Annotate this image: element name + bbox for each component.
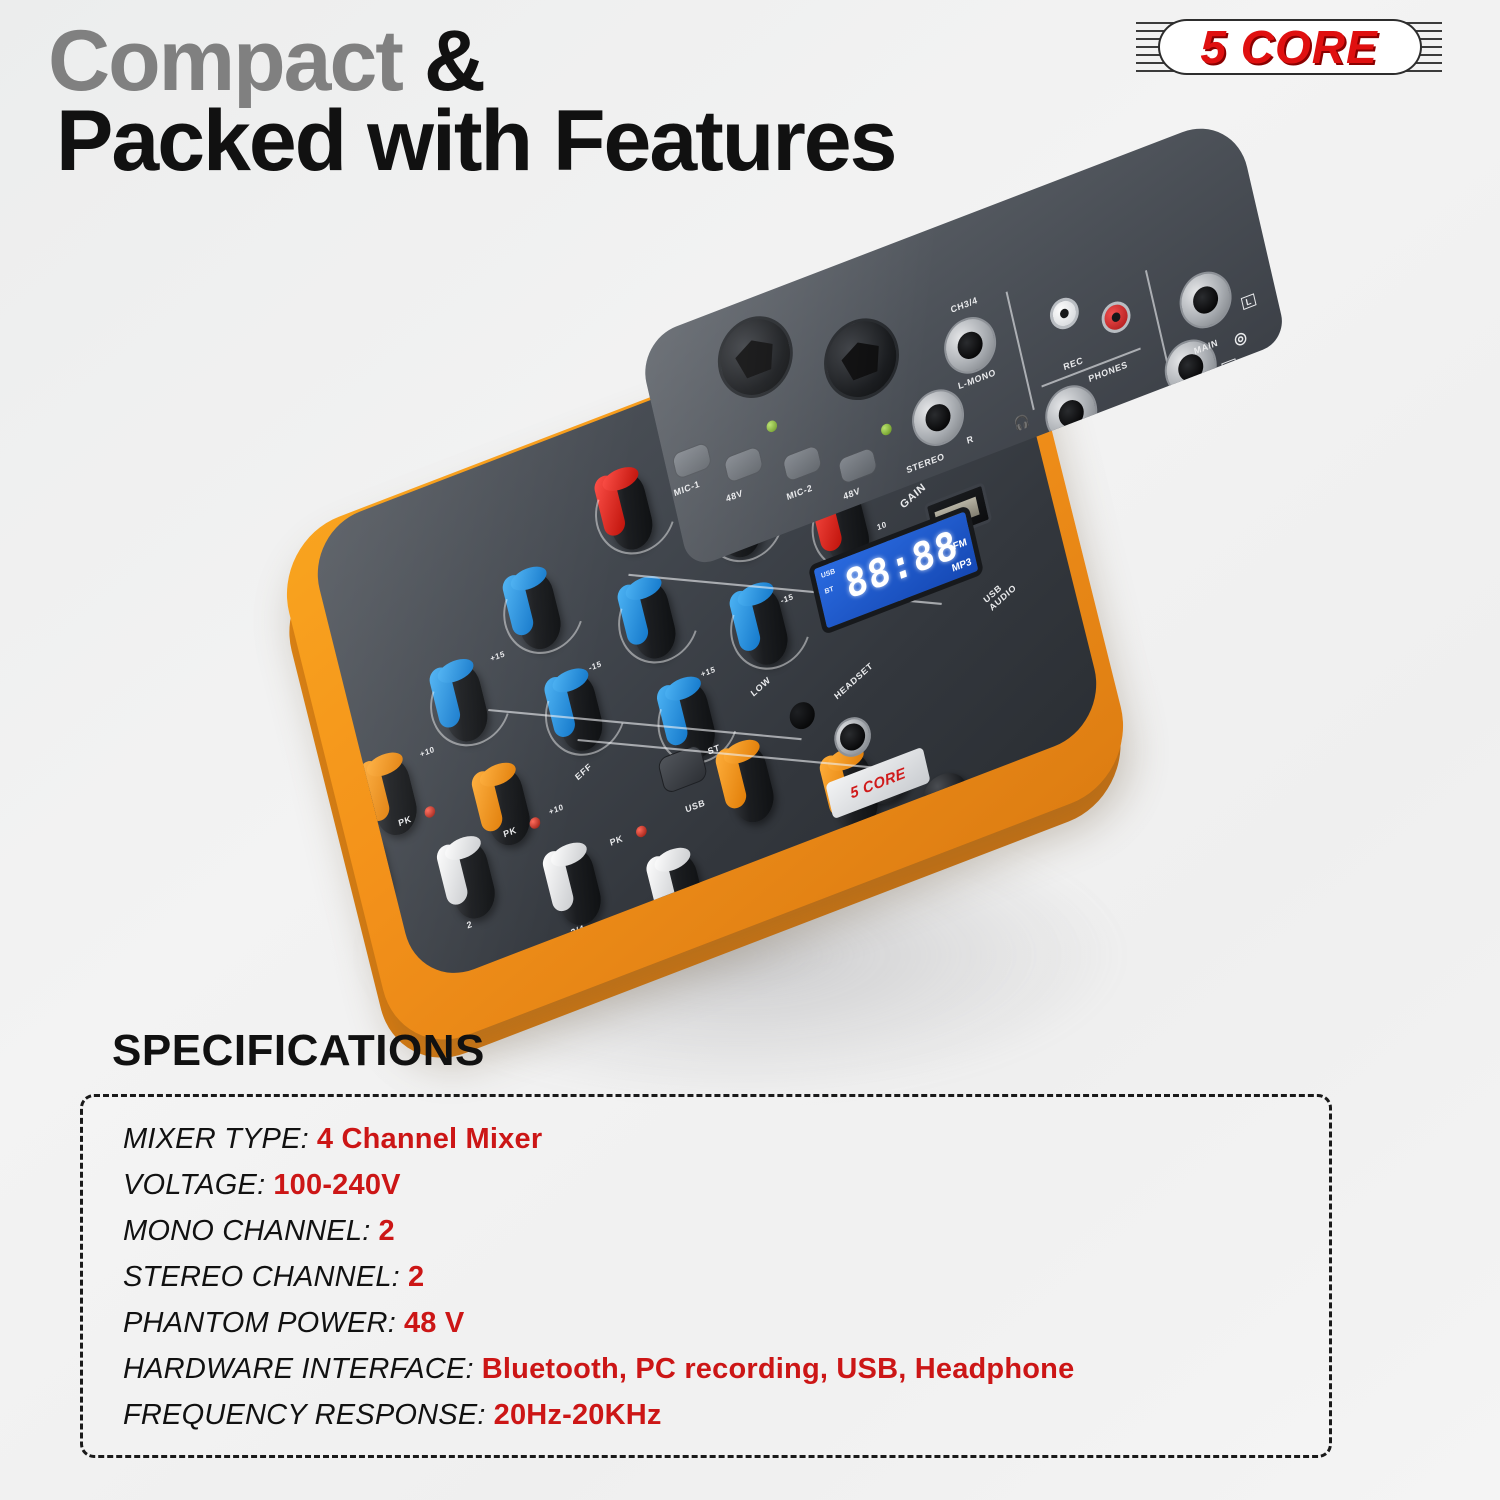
silk-guide-1 [488, 709, 802, 740]
label-rec: REC [1062, 355, 1084, 372]
specifications-box: MIXER TYPE: 4 Channel Mixer VOLTAGE: 100… [80, 1094, 1332, 1458]
spec-value-phantom-power: 48 V [404, 1307, 464, 1340]
jack-ch34[interactable] [939, 309, 1002, 381]
hi-eq-knob-ch1[interactable] [508, 566, 566, 655]
spec-label-mono-channel: MONO CHANNEL: [123, 1215, 371, 1248]
logo-text: 5 CORE [1136, 14, 1442, 80]
label-main-l: L [1241, 293, 1257, 310]
hi-eq-knob-ch2[interactable] [623, 576, 681, 665]
rec-underline [1041, 348, 1140, 388]
spec-row-frequency-response: FREQUENCY RESPONSE: 20Hz-20KHz [123, 1399, 662, 1432]
clip-led-b [991, 850, 1004, 865]
spec-row-voltage: VOLTAGE: 100-240V [123, 1169, 401, 1202]
label-mode: MODE [1030, 836, 1059, 864]
mic1-button[interactable] [671, 441, 712, 480]
st-usb-switch[interactable] [657, 743, 709, 795]
label-low: LOW [749, 675, 772, 699]
spec-value-stereo-channel: 2 [408, 1261, 424, 1294]
eff-knob-ch2[interactable] [477, 762, 535, 851]
jack-main-right[interactable] [1159, 332, 1222, 404]
spec-value-frequency-response: 20Hz-20KHz [494, 1399, 662, 1432]
label-phones: PHONES [1088, 359, 1129, 384]
label-pk-2: PK [502, 825, 517, 840]
label-main: MAIN [1193, 337, 1219, 356]
label-eff: EFF [573, 761, 593, 782]
xlr-input-mic1[interactable] [710, 305, 801, 410]
label-ch2: 2 [466, 919, 474, 931]
pk-led-3 [635, 824, 648, 839]
low-dial-ch2 [532, 652, 639, 772]
low-dial-ch1 [417, 643, 524, 763]
scale-mark-minus15-b: -15 [780, 592, 795, 606]
label-ch34: CH3/4 [950, 295, 979, 315]
label-sig: SIG [922, 883, 941, 899]
hi-dial-ch1 [490, 550, 597, 670]
spec-value-hardware-interface: Bluetooth, PC recording, USB, Headphone [482, 1353, 1075, 1386]
pk-led-2 [528, 816, 541, 831]
spec-label-frequency-response: FREQUENCY RESPONSE: [123, 1399, 486, 1432]
label-r: R [966, 433, 975, 445]
spec-value-mono-channel: 2 [379, 1215, 395, 1248]
xlr-input-mic2[interactable] [816, 307, 907, 412]
panel-divider-2 [1145, 270, 1174, 389]
jack-main-left[interactable] [1174, 264, 1237, 336]
label-pk-3: PK [609, 833, 624, 848]
scale-mark-plus15-a: +15 [489, 649, 506, 663]
headline-line-1: Compact & [48, 22, 1028, 102]
lcd-usb-tag: USB [821, 568, 836, 580]
low-eq-knob-ch34[interactable] [662, 676, 720, 765]
gain-knob-ch1[interactable] [600, 467, 658, 556]
product-image-audio-mixer: MIC-1 48V MIC-2 48V CH3/4 L-MONO STEREO … [250, 205, 1270, 1025]
label-headset: HEADSET [832, 661, 874, 702]
label-mic1: MIC-1 [673, 479, 701, 499]
spec-label-phantom-power: PHANTOM POWER: [123, 1307, 396, 1340]
label-stereo: STEREO [905, 451, 945, 475]
label-phantom1: 48V [725, 488, 744, 504]
brand-logo: 5 CORE [1136, 14, 1442, 80]
spec-row-mixer-type: MIXER TYPE: 4 Channel Mixer [123, 1123, 542, 1156]
scale-mark-60: 10 [876, 520, 888, 532]
mic2-led [880, 422, 893, 437]
page-headline: Compact & Packed with Features [48, 22, 1028, 182]
headset-jack[interactable] [830, 712, 875, 763]
spec-row-phantom-power: PHANTOM POWER: 48 V [123, 1307, 464, 1340]
spec-label-mixer-type: MIXER TYPE: [123, 1123, 309, 1156]
headphone-icon: 🎧 [1012, 412, 1031, 434]
silk-guide-2 [577, 739, 891, 770]
headset-mic-hole [787, 698, 818, 733]
phantom1-button[interactable] [723, 445, 764, 484]
lcd-bt-tag: BT [824, 586, 834, 596]
low-eq-knob-ch2[interactable] [550, 668, 608, 757]
scale-mark-minus15-a: -15 [588, 659, 603, 673]
rca-rec-left[interactable] [1047, 293, 1082, 333]
label-pow: POW [907, 919, 931, 937]
low-dial-ch34 [644, 660, 751, 780]
hi-dial-ch34 [717, 566, 824, 686]
speaker-icon: ◎ [1232, 327, 1249, 350]
hi-eq-knob-ch34[interactable] [735, 582, 793, 671]
label-usb-audio: USBAUDIO [982, 575, 1019, 613]
scale-mark-plus15-b: +15 [700, 665, 717, 679]
specifications-title: SPECIFICATIONS [112, 1026, 485, 1076]
spec-value-mixer-type: 4 Channel Mixer [317, 1123, 542, 1156]
label-st: ST [707, 742, 721, 756]
label-main-r: R [1221, 358, 1238, 375]
low-eq-knob-ch1[interactable] [435, 658, 493, 747]
spec-row-mono-channel: MONO CHANNEL: 2 [123, 1215, 395, 1248]
level-knob-ch34[interactable] [548, 842, 606, 931]
hi-dial-ch2 [605, 560, 712, 680]
label-mic2: MIC-2 [786, 482, 814, 502]
eff-send-knob[interactable] [721, 739, 779, 828]
spec-label-stereo-channel: STEREO CHANNEL: [123, 1261, 400, 1294]
spec-value-voltage: 100-240V [273, 1169, 400, 1202]
pk-led-1 [423, 805, 436, 820]
mic1-led [765, 419, 778, 434]
sig-led-b [974, 887, 987, 902]
scale-mark-plus10-b: +10 [548, 802, 565, 816]
label-phantom2: 48V [842, 486, 861, 502]
spec-row-stereo-channel: STEREO CHANNEL: 2 [123, 1261, 424, 1294]
rca-rec-right[interactable] [1099, 297, 1134, 337]
headline-line-2: Packed with Features [56, 102, 1028, 182]
spec-row-hardware-interface: HARDWARE INTERFACE: Bluetooth, PC record… [123, 1353, 1074, 1386]
spec-label-voltage: VOLTAGE: [123, 1169, 265, 1202]
spec-label-hardware-interface: HARDWARE INTERFACE: [123, 1353, 474, 1386]
phantom2-button[interactable] [837, 446, 878, 485]
label-pk-1: PK [397, 814, 412, 829]
panel-divider-1 [1006, 291, 1035, 410]
label-l-mono: L-MONO [957, 367, 997, 391]
label-usb: USB [684, 797, 706, 814]
mic2-button[interactable] [782, 444, 823, 483]
jack-stereo[interactable] [907, 381, 970, 453]
scale-mark-plus10-a: +10 [419, 745, 436, 759]
level-knob-ch2[interactable] [442, 836, 500, 925]
pow-led [881, 918, 894, 933]
